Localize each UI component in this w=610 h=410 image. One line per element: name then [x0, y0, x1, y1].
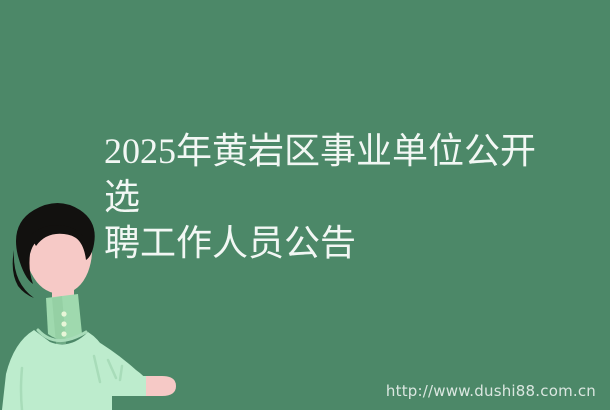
- page-title: 2025年黄岩区事业单位公开选聘工作人员公告: [104, 128, 564, 266]
- promo-banner-card: 2025年黄岩区事业单位公开选聘工作人员公告 http://www.dushi8…: [0, 0, 610, 410]
- watermark-url: http://www.dushi88.com.cn: [386, 382, 596, 400]
- title-line-2: 聘工作人员公告: [104, 223, 356, 263]
- title-line-1: 2025年黄岩区事业单位公开选: [104, 131, 536, 217]
